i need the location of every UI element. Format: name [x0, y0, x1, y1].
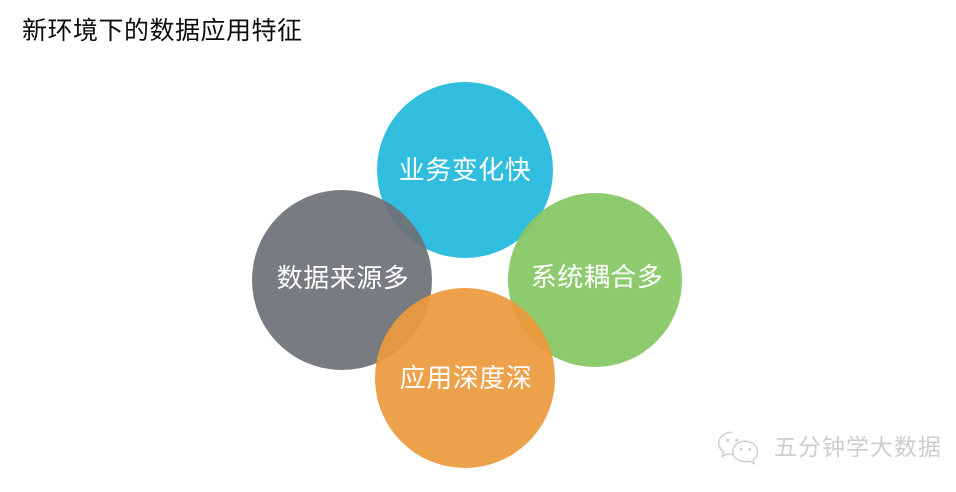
slide-canvas: 新环境下的数据应用特征 业务变化快 系统耦合多 数据来源多 应用深度深 五分钟学…: [0, 0, 956, 492]
watermark: 五分钟学大数据: [716, 429, 942, 465]
wechat-icon: [716, 429, 762, 465]
venn-diagram: [0, 0, 956, 492]
bubble-circle-bottom[interactable]: [375, 288, 555, 468]
watermark-text: 五分钟学大数据: [774, 432, 942, 462]
